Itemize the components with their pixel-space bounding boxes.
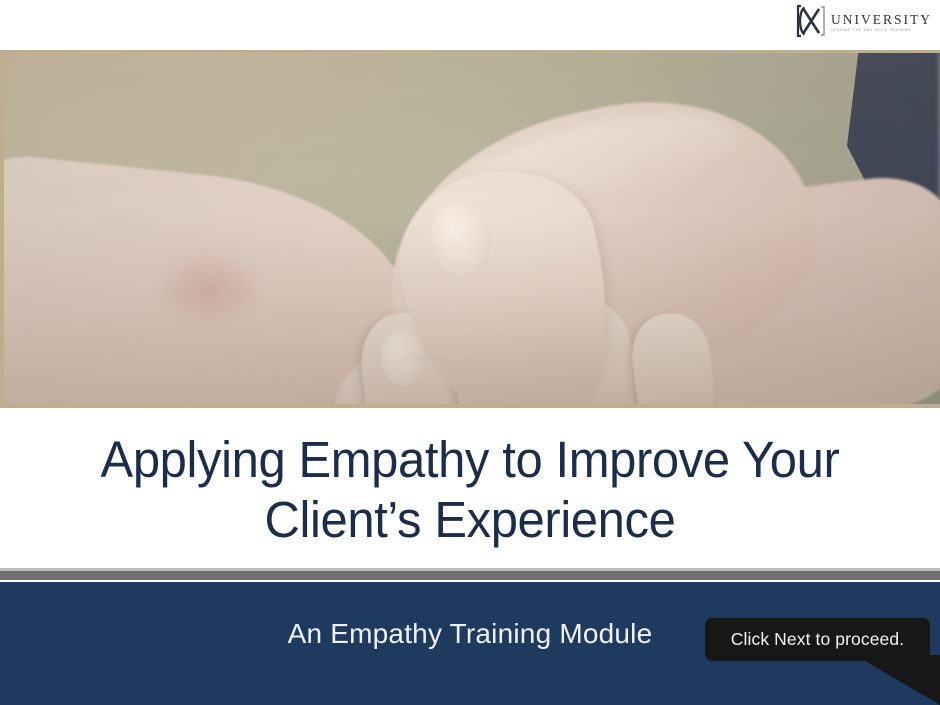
slide-header: UNIVERSITY LEADING THE WAY IN CX TRAININ…	[0, 0, 940, 50]
section-divider	[0, 568, 940, 582]
hero-photo-frame	[0, 50, 940, 408]
logo-tagline: LEADING THE WAY IN CX TRAINING	[831, 29, 932, 33]
x-monogram-icon	[795, 4, 829, 38]
title-slide: UNIVERSITY LEADING THE WAY IN CX TRAININ…	[0, 0, 940, 705]
logo-wordmark: UNIVERSITY LEADING THE WAY IN CX TRAININ…	[831, 10, 932, 32]
photo-color-wash	[4, 53, 940, 404]
hero-photo-clasped-hands	[4, 53, 940, 404]
divider-dark-line	[0, 571, 940, 580]
callout-bubble: Click Next to proceed.	[705, 618, 930, 661]
logo-name: UNIVERSITY	[831, 13, 932, 27]
university-logo: UNIVERSITY LEADING THE WAY IN CX TRAININ…	[795, 3, 932, 39]
page-title: Applying Empathy to Improve Your Client’…	[48, 430, 893, 550]
callout-text: Click Next to proceed.	[731, 629, 904, 650]
title-area: Applying Empathy to Improve Your Client’…	[0, 412, 940, 568]
